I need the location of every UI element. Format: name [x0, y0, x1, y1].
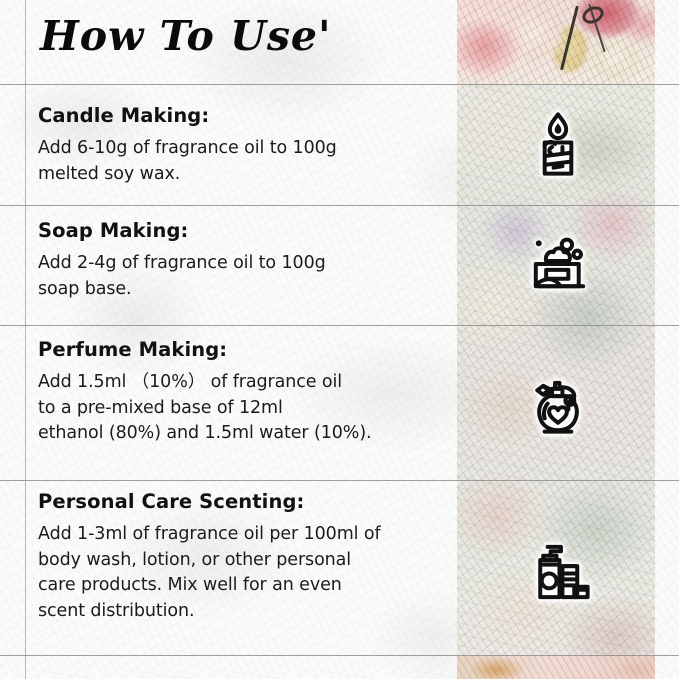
- soap-bar-icon: [521, 227, 595, 301]
- soap-icon-container: [512, 218, 604, 310]
- rose-photo-lines: [457, 0, 655, 84]
- section-body-personal-care: Add 1-3ml of fragrance oil per 100ml of …: [38, 522, 448, 625]
- section-soap-making: Soap Making: Add 2-4g of fragrance oil t…: [38, 219, 448, 302]
- how-to-use-infographic: How To Use' Candle Making: Add 6-10g of …: [0, 0, 679, 679]
- section-perfume-making: Perfume Making: Add 1.5ml （10%） of fragr…: [38, 338, 448, 447]
- lotion-bottle-icon: [521, 535, 595, 609]
- perfume-icon-container: [512, 362, 604, 454]
- section-personal-care: Personal Care Scenting: Add 1-3ml of fra…: [38, 490, 448, 625]
- section-heading-soap: Soap Making:: [38, 219, 448, 242]
- right-edge-strip: [655, 0, 679, 679]
- section-body-candle: Add 6-10g of fragrance oil to 100g melte…: [38, 136, 448, 187]
- section-body-soap: Add 2-4g of fragrance oil to 100g soap b…: [38, 251, 448, 302]
- page-title: How To Use': [40, 12, 332, 60]
- candle-icon-container: [512, 98, 604, 190]
- section-heading-perfume: Perfume Making:: [38, 338, 448, 361]
- floral-photo-strip: [457, 656, 655, 679]
- perfume-bottle-icon: [521, 371, 595, 445]
- section-body-perfume: Add 1.5ml （10%） of fragrance oil to a pr…: [38, 370, 448, 447]
- section-heading-personal-care: Personal Care Scenting:: [38, 490, 448, 513]
- personal-care-icon-container: [512, 526, 604, 618]
- candle-icon: [521, 107, 595, 181]
- content-area: How To Use' Candle Making: Add 6-10g of …: [0, 0, 457, 679]
- rose-photo-banner: [457, 0, 655, 84]
- section-candle-making: Candle Making: Add 6-10g of fragrance oi…: [38, 104, 448, 187]
- section-heading-candle: Candle Making:: [38, 104, 448, 127]
